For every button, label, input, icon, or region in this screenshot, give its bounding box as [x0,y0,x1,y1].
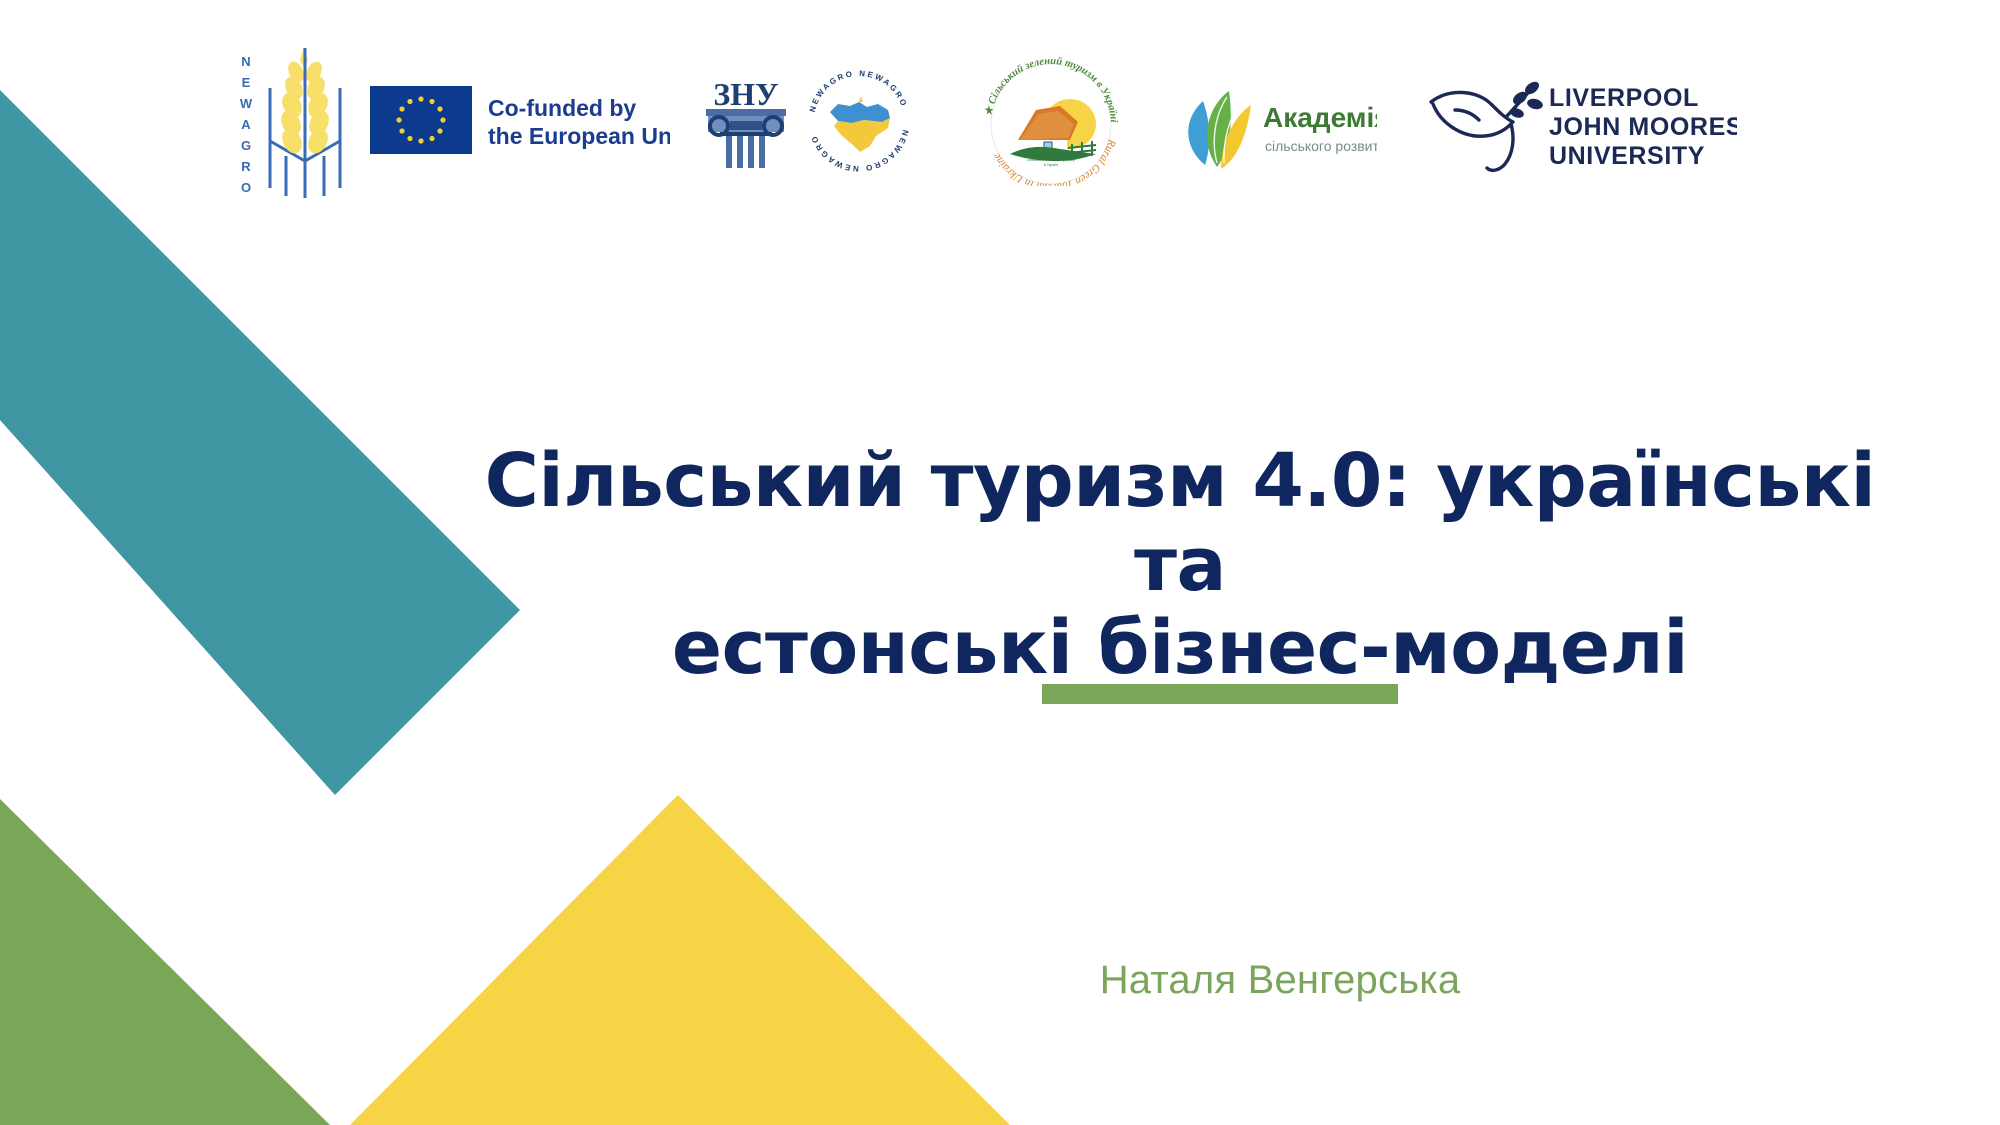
ljmu-line2: JOHN MOORES [1549,113,1737,141]
yellow-triangle [330,780,1030,1125]
newagro-circle-logo: NEWAGRO NEWAGRO NEWAGRO NEWAGRO [804,66,914,176]
eu-logo-line1: Co-funded by [488,95,636,121]
author-name: Наталя Венгерська [960,958,1600,1003]
newagro-logo: N E W A G R O [230,38,360,203]
svg-text:O: O [241,180,251,195]
rural-green-tourism-logo: ★ Сільський зелений туризм в Україні ★ R… [974,56,1129,186]
akademia-subtitle: сільського розвитку [1265,138,1377,154]
akademia-logo: Академія сільського розвитку [1177,71,1377,171]
presentation-slide: N E W A G R O [0,0,2000,1125]
svg-text:N: N [241,54,250,69]
akademia-title: Академія [1263,102,1377,133]
znu-abbrev: ЗНУ [713,76,778,112]
ljmu-logo: LIVERPOOL JOHN MOORES UNIVERSITY [1419,66,1737,176]
eu-cofunded-logo: Co-funded by the European Union [370,78,670,164]
svg-text:W: W [240,96,253,111]
svg-text:сільського зеленого туризму: сільського зеленого туризму [1027,158,1074,162]
title-block: Сільський туризм 4.0: українські та есто… [440,440,1920,691]
title-accent-rule [1042,684,1398,704]
green-triangle [0,780,360,1125]
partner-logo-strip: N E W A G R O [230,38,1790,203]
znu-logo: ЗНУ [700,71,792,171]
ljmu-line3: UNIVERSITY [1549,142,1705,170]
page-title: Сільський туризм 4.0: українські та есто… [440,440,1920,691]
eu-logo-line2: the European Union [488,123,670,149]
svg-text:A: A [241,117,251,132]
svg-text:E: E [242,75,251,90]
svg-text:R: R [241,159,251,174]
svg-text:в Україні: в Україні [1044,163,1059,167]
ljmu-line1: LIVERPOOL [1549,84,1699,112]
svg-text:G: G [241,138,251,153]
